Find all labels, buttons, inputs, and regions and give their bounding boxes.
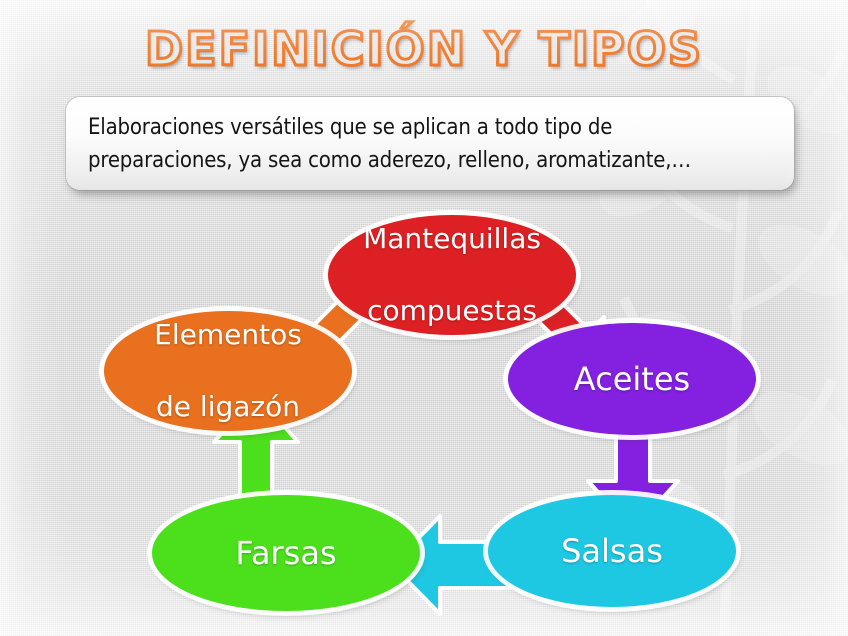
node-farsas[interactable]: Farsas <box>152 495 420 611</box>
page-title: DEFINICIÓN Y TIPOS <box>0 22 848 76</box>
node-elementos-label-line1: Elementos <box>146 317 310 353</box>
cycle-diagram: Mantequillascompuestas Aceites Salsas Fa… <box>0 195 848 636</box>
caption-box: Elaboraciones versátiles que se aplican … <box>66 97 794 190</box>
node-salsas[interactable]: Salsas <box>488 495 736 607</box>
caption-line-1: Elaboraciones versátiles que se aplican … <box>88 111 772 144</box>
node-aceites[interactable]: Aceites <box>508 323 756 435</box>
node-mantequillas[interactable]: Mantequillascompuestas <box>328 215 576 335</box>
node-elementos-label: Elementosde ligazón <box>138 317 318 425</box>
node-elementos[interactable]: Elementosde ligazón <box>104 311 352 431</box>
node-mantequillas-label-line1: Mantequillas <box>355 221 549 257</box>
node-elementos-label-line2: de ligazón <box>146 389 310 425</box>
node-mantequillas-label: Mantequillascompuestas <box>347 221 557 329</box>
node-farsas-label: Farsas <box>227 533 344 573</box>
slide: DEFINICIÓN Y TIPOS Elaboraciones versáti… <box>0 0 848 636</box>
node-salsas-label: Salsas <box>553 531 671 571</box>
node-mantequillas-label-line2: compuestas <box>355 293 549 329</box>
caption-line-2: preparaciones, ya sea como aderezo, rell… <box>88 144 772 177</box>
node-aceites-label: Aceites <box>566 359 698 399</box>
